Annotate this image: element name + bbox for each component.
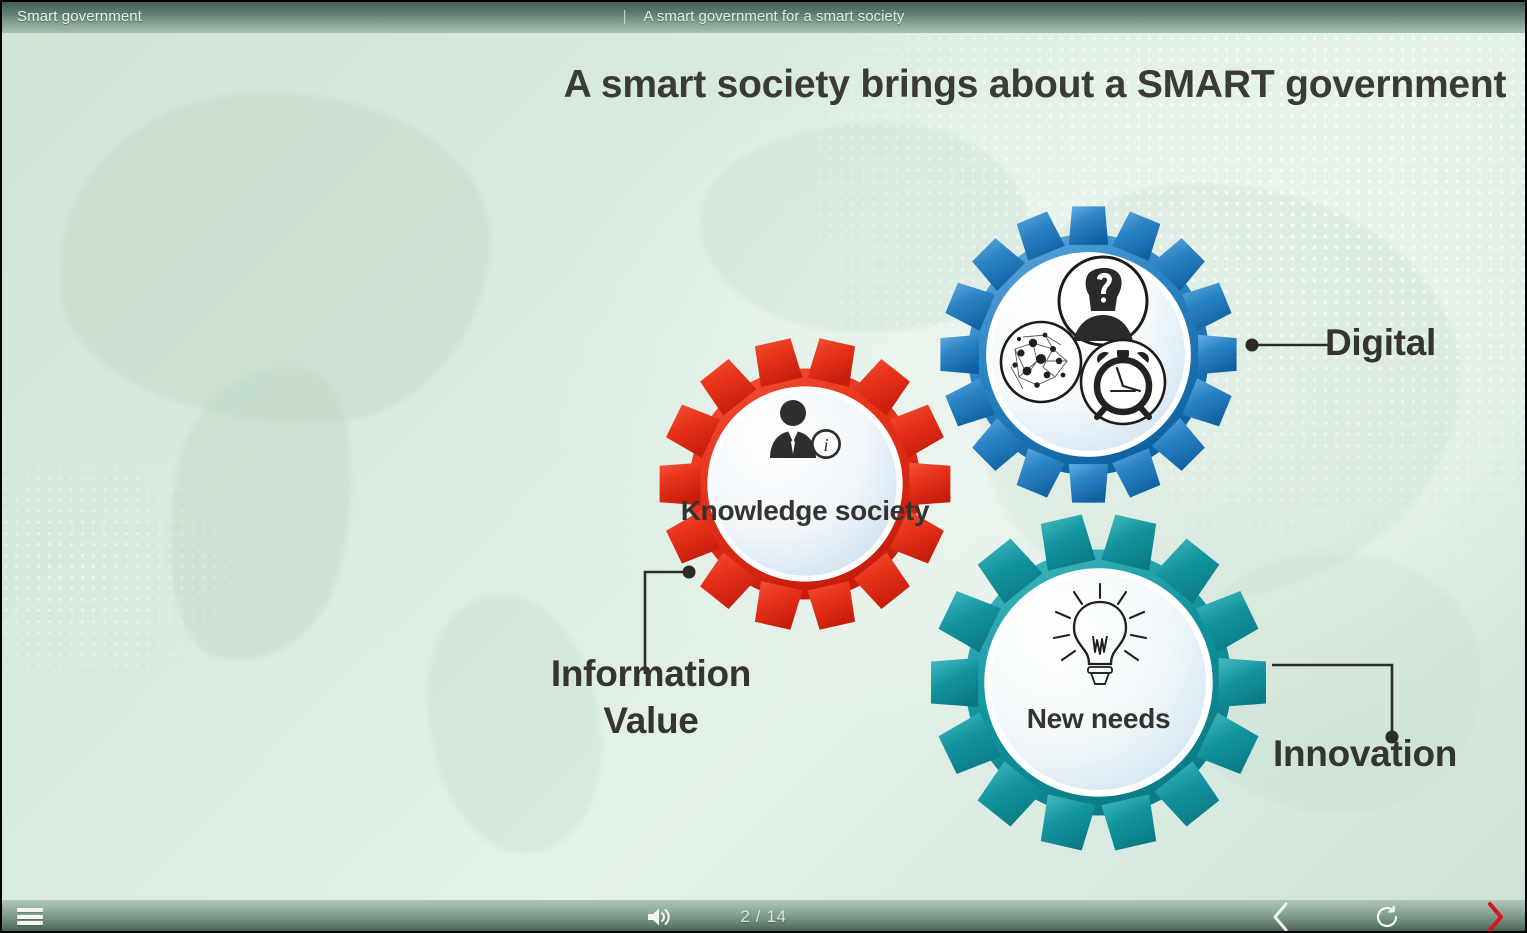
next-slide-button[interactable] (1472, 900, 1518, 933)
slide-canvas: A smart society brings about a SMART gov… (0, 33, 1527, 900)
person-info-icon: i (762, 398, 848, 462)
frame-edge (0, 0, 2, 933)
network-nodes-icon (1001, 322, 1081, 402)
title-separator: | (623, 8, 627, 25)
chevron-right-icon (1483, 901, 1507, 933)
callout-line-1: Information (536, 651, 766, 698)
frame-edge (0, 0, 1527, 2)
callout-innovation: Innovation (1273, 733, 1457, 775)
volume-button[interactable] (637, 900, 681, 933)
top-bar-center: | A smart government for a smart society (0, 0, 1527, 33)
course-title: Smart government (17, 8, 142, 25)
lesson-title: A smart government for a smart society (643, 8, 904, 25)
replay-button[interactable] (1364, 900, 1410, 933)
gear-digital[interactable] (938, 204, 1239, 505)
page-indicator-text: 2 / 14 (740, 907, 786, 927)
chevron-left-icon (1270, 901, 1292, 933)
speaker-icon (645, 905, 673, 929)
gear-new-needs[interactable]: New needs (928, 512, 1269, 853)
top-bar: Smart government | A smart government fo… (0, 0, 1527, 33)
alarm-clock-icon (1081, 340, 1165, 424)
person-question-icon (1059, 257, 1147, 345)
callout-information-value: Information Value (536, 651, 766, 744)
svg-text:i: i (823, 435, 828, 455)
previous-slide-button[interactable] (1258, 900, 1304, 933)
slide-headline: A smart society brings about a SMART gov… (560, 63, 1510, 107)
refresh-icon (1373, 903, 1401, 931)
callout-line-2: Value (536, 698, 766, 745)
hamburger-icon (17, 906, 43, 928)
lightbulb-icon (1046, 580, 1154, 692)
presentation-player: Smart government | A smart government fo… (0, 0, 1527, 933)
player-toolbar: 2 / 14 (0, 900, 1527, 933)
menu-button[interactable] (8, 900, 52, 933)
digital-icon-cluster (993, 249, 1193, 449)
callout-digital: Digital (1325, 322, 1436, 364)
